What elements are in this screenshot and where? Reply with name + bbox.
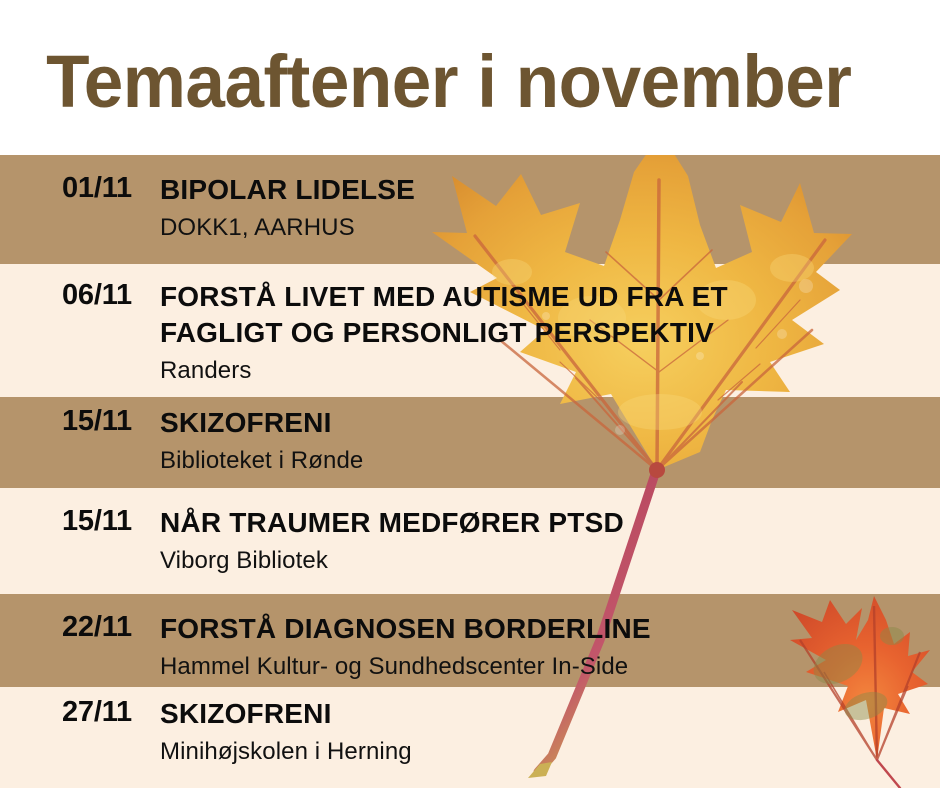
event-title: BIPOLAR LIDELSE <box>160 172 940 208</box>
event-body: BIPOLAR LIDELSE DOKK1, AARHUS <box>160 172 940 243</box>
table-row[interactable]: 06/11 FORSTÅ LIVET MED AUTISME UD FRA ET… <box>0 279 940 386</box>
poster-canvas: 01/11 BIPOLAR LIDELSE DOKK1, AARHUS 06/1… <box>0 0 940 788</box>
event-title: SKIZOFRENI <box>160 696 940 732</box>
event-body: FORSTÅ LIVET MED AUTISME UD FRA ET FAGLI… <box>160 279 940 386</box>
event-venue: Viborg Bibliotek <box>160 545 940 576</box>
event-venue: Minihøjskolen i Herning <box>160 736 940 767</box>
event-date: 06/11 <box>0 279 160 312</box>
event-body: NÅR TRAUMER MEDFØRER PTSD Viborg Bibliot… <box>160 505 940 576</box>
event-venue: Randers <box>160 355 940 386</box>
event-title: FORSTÅ LIVET MED AUTISME UD FRA ET FAGLI… <box>160 279 940 351</box>
table-row[interactable]: 15/11 SKIZOFRENI Biblioteket i Rønde <box>0 405 940 476</box>
event-body: FORSTÅ DIAGNOSEN BORDERLINE Hammel Kultu… <box>160 611 940 682</box>
event-date: 27/11 <box>0 696 160 729</box>
title-banner: Temaaftener i november <box>0 0 940 155</box>
event-venue: Biblioteket i Rønde <box>160 445 940 476</box>
event-date: 22/11 <box>0 611 160 644</box>
event-venue: DOKK1, AARHUS <box>160 212 940 243</box>
event-title: SKIZOFRENI <box>160 405 940 441</box>
event-date: 15/11 <box>0 505 160 538</box>
event-venue: Hammel Kultur- og Sundhedscenter In-Side <box>160 651 940 682</box>
event-body: SKIZOFRENI Minihøjskolen i Herning <box>160 696 940 767</box>
table-row[interactable]: 22/11 FORSTÅ DIAGNOSEN BORDERLINE Hammel… <box>0 611 940 682</box>
table-row[interactable]: 15/11 NÅR TRAUMER MEDFØRER PTSD Viborg B… <box>0 505 940 576</box>
event-title: NÅR TRAUMER MEDFØRER PTSD <box>160 505 940 541</box>
table-row[interactable]: 01/11 BIPOLAR LIDELSE DOKK1, AARHUS <box>0 172 940 243</box>
event-date: 15/11 <box>0 405 160 438</box>
table-row[interactable]: 27/11 SKIZOFRENI Minihøjskolen i Herning <box>0 696 940 767</box>
event-title: FORSTÅ DIAGNOSEN BORDERLINE <box>160 611 940 647</box>
page-title: Temaaftener i november <box>0 45 851 119</box>
event-date: 01/11 <box>0 172 160 205</box>
event-body: SKIZOFRENI Biblioteket i Rønde <box>160 405 940 476</box>
